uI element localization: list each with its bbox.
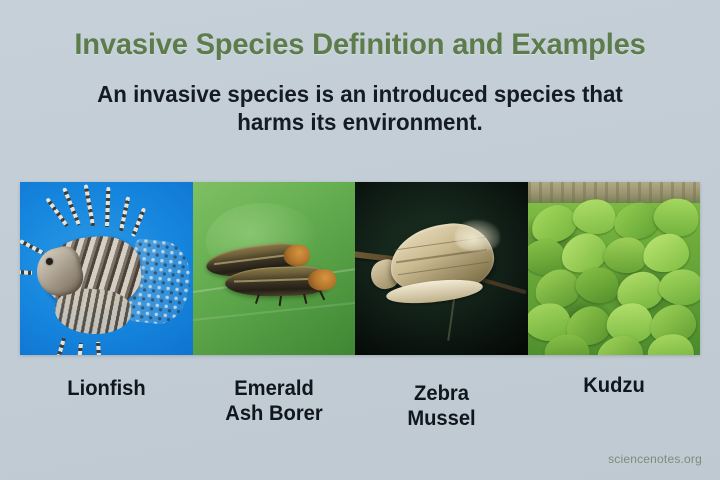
lionfish-spine <box>131 208 146 237</box>
label-lionfish: Lionfish <box>23 370 189 445</box>
lionfish-spine <box>54 337 66 355</box>
label-emerald-ash-borer-line-1: Emerald <box>196 376 352 401</box>
lionfish-eye <box>46 258 53 265</box>
label-emerald-ash-borer-line-2: Ash Borer <box>196 401 352 426</box>
label-kudzu: Kudzu <box>531 370 696 445</box>
beetle-leg <box>303 294 307 304</box>
lionfish-spine <box>76 343 83 355</box>
example-photo-strip <box>20 182 700 355</box>
mussel-growth-ridge <box>397 262 488 276</box>
lionfish-spine <box>105 187 110 227</box>
label-zebra-mussel: Zebra Mussel <box>358 370 524 445</box>
lionfish-spine <box>45 198 68 228</box>
label-lionfish-line-1: Lionfish <box>23 376 189 401</box>
lionfish-spine <box>20 239 44 255</box>
mussel-growth-ridge <box>396 249 487 263</box>
label-zebra-mussel-line-1: Zebra <box>358 381 524 406</box>
mussel-shell-highlight <box>455 220 500 251</box>
lionfish-spine <box>119 196 130 231</box>
definition-line-2: harms its environment. <box>59 108 660 136</box>
lionfish-spine <box>84 184 95 226</box>
emerald-ash-borer-photo <box>193 182 355 355</box>
label-kudzu-line-1: Kudzu <box>531 373 696 398</box>
label-zebra-mussel-line-2: Mussel <box>358 406 524 431</box>
invasive-species-infographic: Invasive Species Definition and Examples… <box>0 0 720 480</box>
page-title: Invasive Species Definition and Examples <box>11 28 709 62</box>
beetle-leg <box>279 296 282 306</box>
kudzu-leaf <box>641 232 691 275</box>
beetle-head <box>308 268 337 291</box>
beetle-leg <box>319 291 325 301</box>
kudzu-photo <box>528 182 700 355</box>
example-labels-row: Lionfish Emerald Ash Borer Zebra Mussel … <box>20 370 700 445</box>
definition-text: An invasive species is an introduced spe… <box>59 80 660 136</box>
zebra-mussel-photo <box>355 182 528 355</box>
source-watermark: sciencenotes.org <box>608 452 702 466</box>
lionfish-spine <box>96 342 102 355</box>
lionfish-spine <box>20 270 33 276</box>
lionfish-photo <box>20 182 193 355</box>
beetle-leg <box>255 294 260 304</box>
leaf-vein <box>193 299 355 322</box>
label-emerald-ash-borer: Emerald Ash Borer <box>196 370 352 445</box>
definition-line-1: An invasive species is an introduced spe… <box>59 80 660 108</box>
